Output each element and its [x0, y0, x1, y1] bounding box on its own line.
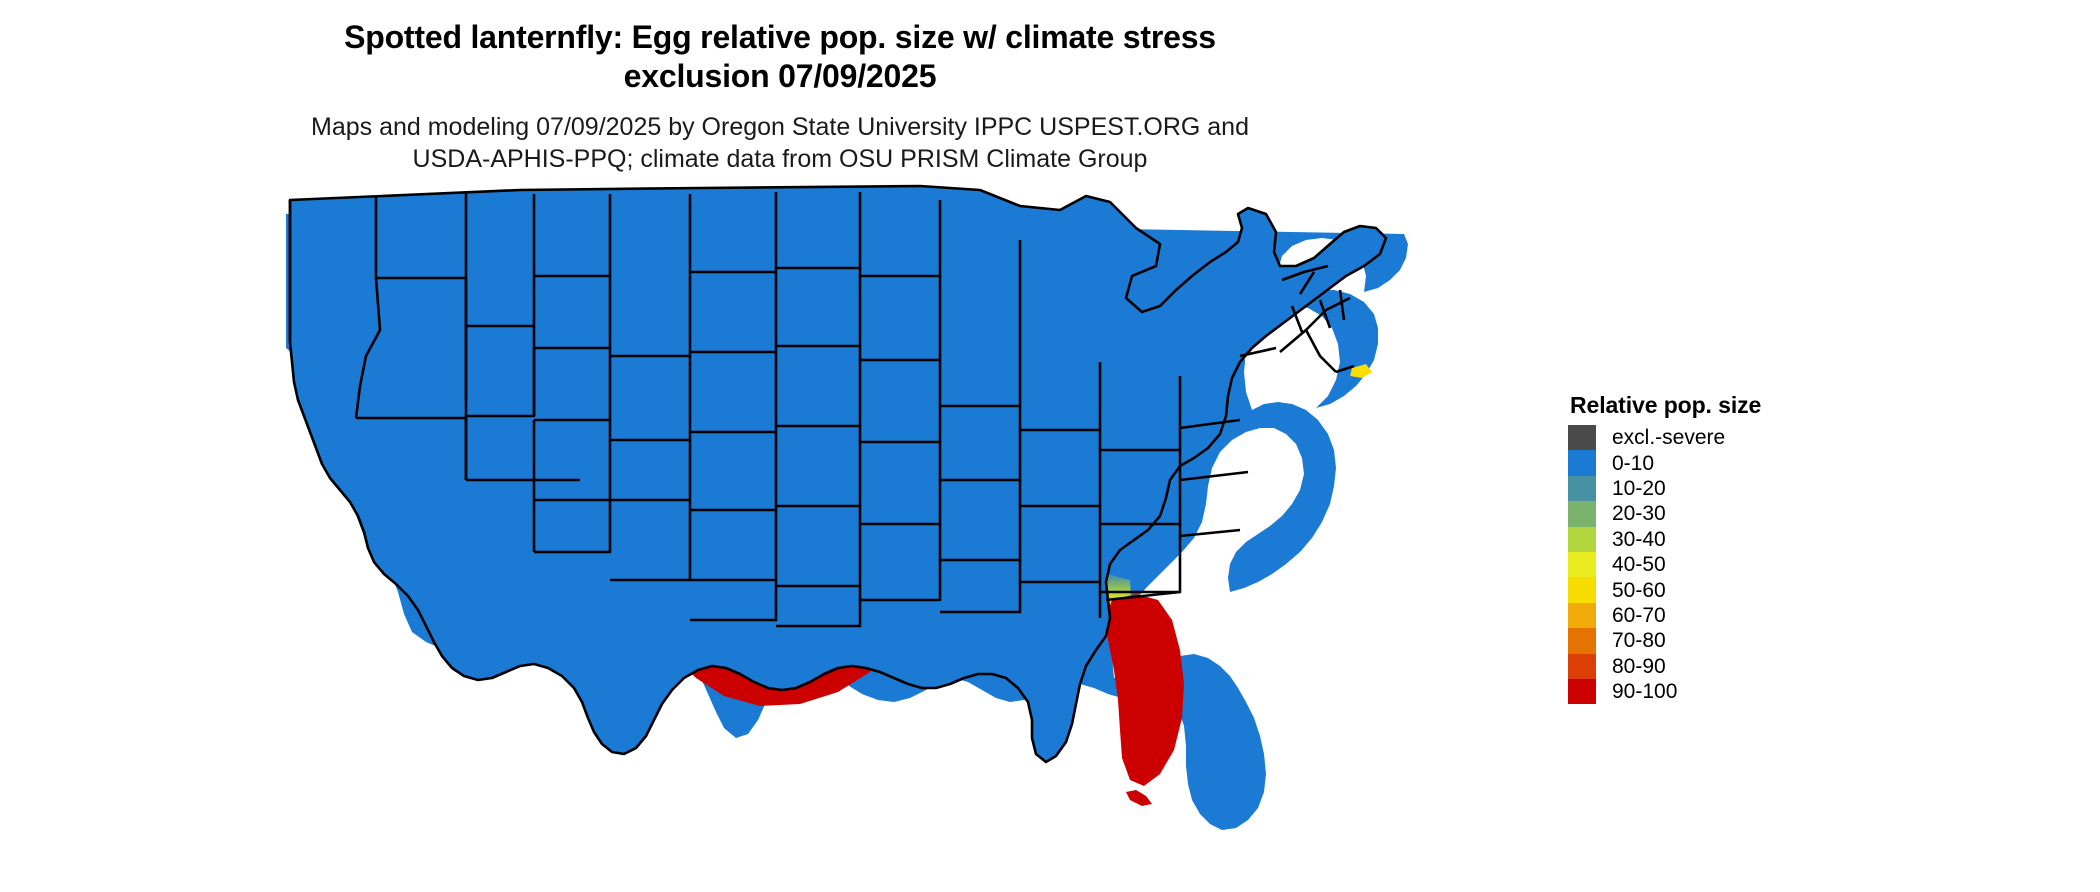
legend-row: 60-70: [1568, 603, 1868, 628]
legend-swatch: [1568, 577, 1596, 602]
legend-label: excl.-severe: [1612, 427, 1725, 448]
legend-label: 0-10: [1612, 453, 1654, 474]
legend-swatch: [1568, 628, 1596, 653]
legend-swatch: [1568, 679, 1596, 704]
legend-swatch: [1568, 501, 1596, 526]
legend-label: 60-70: [1612, 605, 1666, 626]
legend-label: 20-30: [1612, 503, 1666, 524]
legend-row: 50-60: [1568, 577, 1868, 602]
map-svg: [280, 180, 1550, 880]
legend-row: 10-20: [1568, 476, 1868, 501]
legend-swatch: [1568, 476, 1596, 501]
legend-row: 40-50: [1568, 552, 1868, 577]
legend-row: 90-100: [1568, 679, 1868, 704]
legend-items: excl.-severe0-1010-2020-3030-4040-5050-6…: [1568, 425, 1868, 704]
legend-title: Relative pop. size: [1570, 392, 1868, 419]
legend-row: 20-30: [1568, 501, 1868, 526]
legend-swatch: [1568, 552, 1596, 577]
legend-label: 10-20: [1612, 478, 1666, 499]
legend-row: 70-80: [1568, 628, 1868, 653]
legend-label: 90-100: [1612, 681, 1677, 702]
legend-row: 80-90: [1568, 654, 1868, 679]
legend-label: 40-50: [1612, 554, 1666, 575]
legend-swatch: [1568, 603, 1596, 628]
legend: Relative pop. size excl.-severe0-1010-20…: [1568, 392, 1868, 704]
us-choropleth-map: [280, 180, 1550, 880]
legend-row: 30-40: [1568, 527, 1868, 552]
map-figure: Spotted lanternfly: Egg relative pop. si…: [0, 0, 2100, 892]
legend-swatch: [1568, 527, 1596, 552]
chart-subtitle: Maps and modeling 07/09/2025 by Oregon S…: [0, 112, 1560, 175]
legend-label: 70-80: [1612, 630, 1666, 651]
legend-label: 50-60: [1612, 580, 1666, 601]
legend-swatch: [1568, 654, 1596, 679]
legend-label: 30-40: [1612, 529, 1666, 550]
legend-swatch: [1568, 450, 1596, 475]
legend-swatch: [1568, 425, 1596, 450]
legend-row: excl.-severe: [1568, 425, 1868, 450]
page-title: Spotted lanternfly: Egg relative pop. si…: [0, 18, 1560, 96]
legend-row: 0-10: [1568, 450, 1868, 475]
legend-label: 80-90: [1612, 656, 1666, 677]
title-block: Spotted lanternfly: Egg relative pop. si…: [0, 18, 1560, 175]
